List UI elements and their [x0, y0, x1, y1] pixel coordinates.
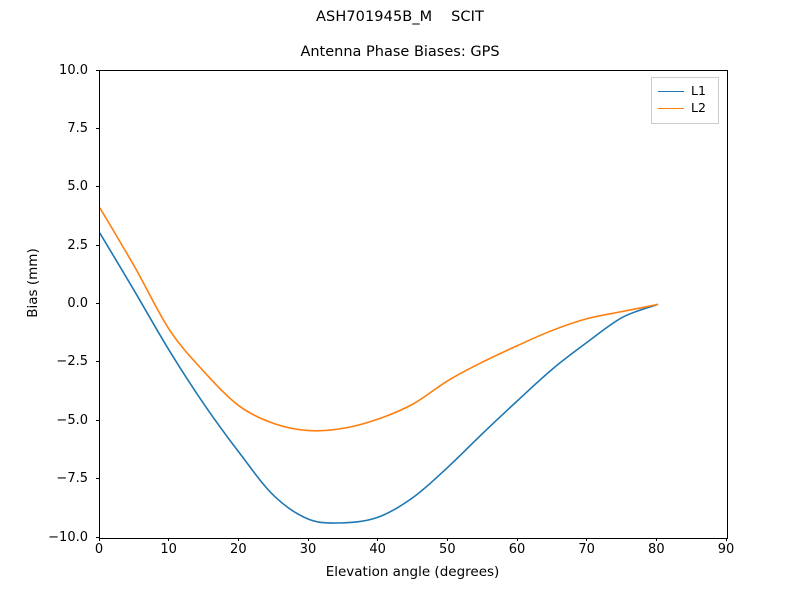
- y-tick-label: −5.0: [26, 414, 88, 427]
- x-tick-label: 0: [74, 543, 124, 556]
- series-canvas: [100, 71, 727, 538]
- legend: L1L2: [651, 77, 719, 124]
- y-tick-label: 10.0: [26, 64, 88, 77]
- series-line-l1: [100, 233, 657, 523]
- x-tick-label: 10: [144, 543, 194, 556]
- y-axis-label: Bias (mm): [25, 203, 41, 363]
- axes-title: Antenna Phase Biases: GPS: [0, 44, 800, 60]
- x-tick-label: 70: [562, 543, 612, 556]
- y-tick-label: 0.0: [26, 297, 88, 310]
- figure-canvas: ASH701945B_M SCIT Antenna Phase Biases: …: [0, 0, 800, 600]
- y-tick-label: −10.0: [26, 531, 88, 544]
- legend-label: L2: [691, 102, 706, 115]
- legend-item-l2[interactable]: L2: [658, 100, 712, 117]
- legend-swatch-l2: [658, 108, 684, 109]
- figure-suptitle: ASH701945B_M SCIT: [0, 9, 800, 25]
- x-tick-label: 80: [631, 543, 681, 556]
- legend-label: L1: [691, 85, 706, 98]
- x-tick-label: 50: [422, 543, 472, 556]
- y-tick-label: −2.5: [26, 355, 88, 368]
- x-tick-label: 30: [283, 543, 333, 556]
- x-tick-label: 90: [701, 543, 751, 556]
- plot-area: [99, 70, 728, 539]
- y-tick-label: 7.5: [26, 122, 88, 135]
- legend-item-l1[interactable]: L1: [658, 83, 712, 100]
- x-tick-label: 60: [492, 543, 542, 556]
- y-tick-label: 5.0: [26, 180, 88, 193]
- x-tick-label: 20: [213, 543, 263, 556]
- y-tick-label: −7.5: [26, 472, 88, 485]
- x-axis-label: Elevation angle (degrees): [99, 564, 726, 580]
- y-tick-label: 2.5: [26, 239, 88, 252]
- x-tick-label: 40: [353, 543, 403, 556]
- legend-swatch-l1: [658, 91, 684, 92]
- series-line-l2: [100, 208, 657, 431]
